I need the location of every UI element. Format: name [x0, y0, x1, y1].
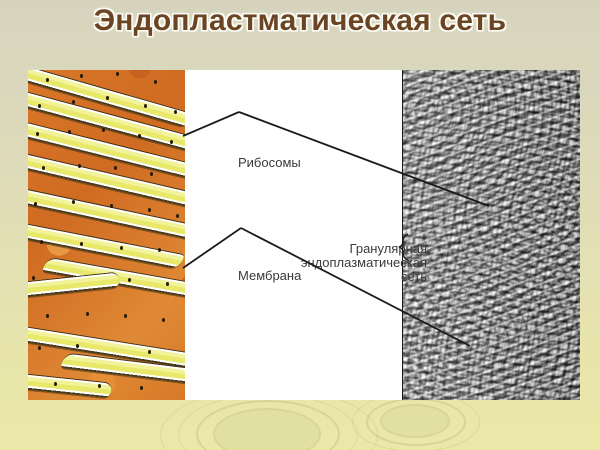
leader-ribosomes-left: [183, 112, 239, 136]
leader-membrane-left: [183, 228, 241, 268]
leader-membrane-right: [241, 228, 470, 346]
leader-ribosomes-right: [239, 112, 489, 206]
granular-er-brace: [399, 234, 408, 260]
leader-lines: [0, 0, 600, 450]
slide-canvas: Эндопластматическая сеть: [0, 0, 600, 450]
